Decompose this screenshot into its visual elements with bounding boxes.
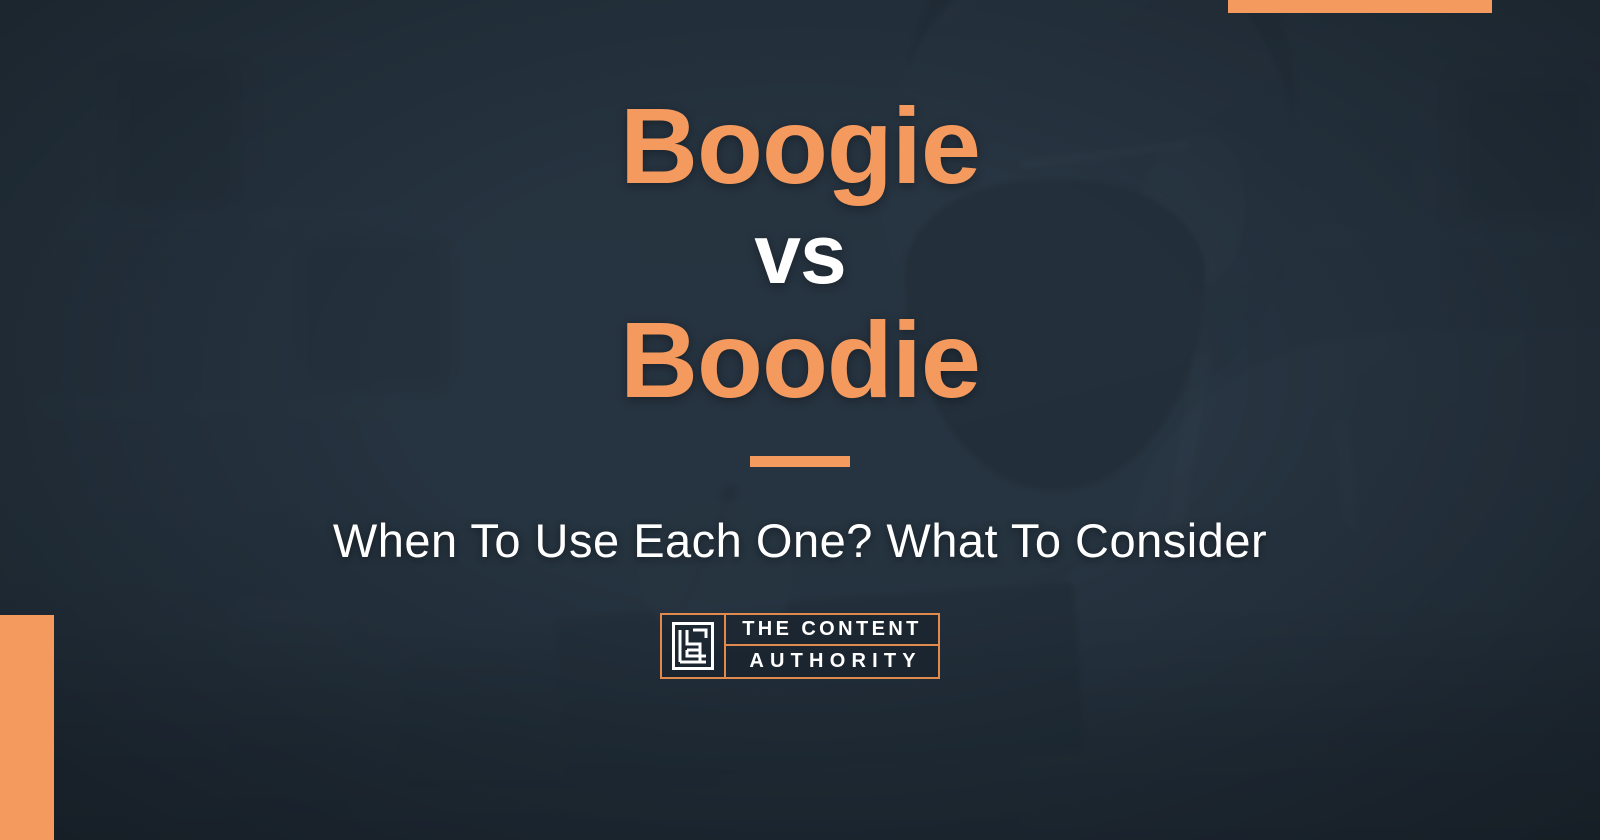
logo-wordmark: THE CONTENT AUTHORITY (726, 615, 938, 677)
logo-line-two: AUTHORITY (726, 646, 938, 677)
poster-content: Boogie vs Boodie When To Use Each One? W… (0, 0, 1600, 840)
title-separator: vs (754, 212, 845, 296)
brand-logo: THE CONTENT AUTHORITY (660, 613, 940, 679)
title-divider (750, 456, 850, 467)
title-line-one: Boogie (620, 92, 980, 200)
title-line-two: Boodie (620, 306, 980, 414)
poster: Boogie vs Boodie When To Use Each One? W… (0, 0, 1600, 840)
maze-square-icon (662, 615, 726, 677)
poster-subtitle: When To Use Each One? What To Consider (333, 513, 1267, 568)
logo-line-one: THE CONTENT (726, 615, 938, 646)
